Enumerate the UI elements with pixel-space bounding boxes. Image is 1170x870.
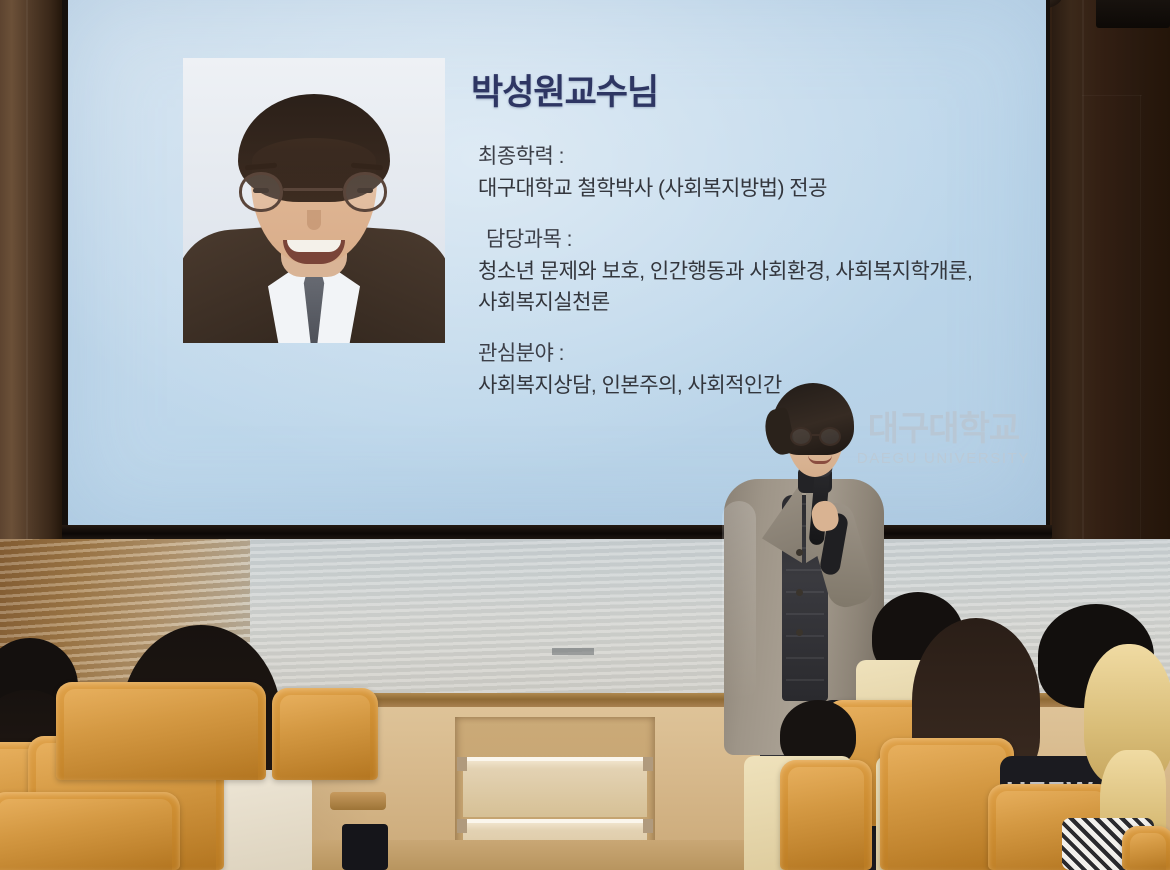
slide-section-courses: 담당과목 : 청소년 문제와 보호, 인간행동과 사회환경, 사회복지학개론, … [478, 225, 1046, 318]
section-line: 대구대학교 철학박사 (사회복지방법) 전공 [478, 174, 1046, 205]
stair-bracket [457, 757, 467, 771]
section-line: 청소년 문제와 보호, 인간행동과 사회환경, 사회복지학개론, [478, 257, 1046, 288]
ceiling-speaker-box-right [1096, 0, 1170, 28]
stair-step-upper [463, 757, 647, 817]
section-label: 담당과목 : [478, 225, 1046, 256]
portrait-teeth [287, 240, 341, 252]
portrait-glasses-lens-right [343, 172, 387, 212]
portrait-nose [307, 210, 321, 230]
section-line: 사회복지실천론 [478, 288, 1046, 319]
slide-section-education: 최종학력 : 대구대학교 철학박사 (사회복지방법) 전공 [478, 142, 1046, 204]
presenter-glasses-lens-left [790, 427, 812, 446]
stair-bracket [643, 819, 653, 833]
lecture-hall-photo: 박성원교수님 최종학력 : 대구대학교 철학박사 (사회복지방법) 전공 담당과… [0, 0, 1170, 870]
slide-body: 최종학력 : 대구대학교 철학박사 (사회복지방법) 전공 담당과목 : 청소년… [478, 142, 1046, 423]
presenter-glasses-lens-right [819, 427, 841, 446]
projection-screen-bottom-bar [62, 525, 1052, 539]
auditorium-seat [780, 760, 872, 870]
presenter-coat-button [796, 589, 803, 596]
wall-seam-left [26, 0, 28, 548]
presenter-coat-button [796, 549, 803, 556]
door-seam [1082, 0, 1084, 560]
stair-bracket [643, 757, 653, 771]
section-label: 최종학력 : [478, 142, 1046, 173]
door-seam [1140, 95, 1141, 555]
professor-portrait-photo [183, 58, 445, 343]
door-seam [1082, 95, 1142, 96]
stair-bracket [457, 819, 467, 833]
seat-armrest [330, 792, 386, 810]
auditorium-seat [56, 682, 266, 780]
auditorium-seat [0, 792, 180, 870]
portrait-glasses-lens-left [239, 172, 283, 212]
stage-floor-plate [552, 648, 594, 655]
portrait-glasses-bridge [283, 188, 343, 191]
auditorium-seat [1122, 826, 1170, 870]
projection-screen: 박성원교수님 최종학력 : 대구대학교 철학박사 (사회복지방법) 전공 담당과… [68, 0, 1046, 525]
wall-panel-right [1052, 0, 1170, 560]
seat-side-panel [342, 824, 388, 870]
presenter-coat-button [796, 629, 803, 636]
wall-panel-left [0, 0, 64, 548]
auditorium-seat [272, 688, 378, 780]
presenter-hair [772, 383, 854, 455]
section-label: 관심분야 : [478, 339, 1046, 370]
slide-title: 박성원교수님 [471, 64, 658, 115]
presenter-glasses-bridge [812, 434, 821, 436]
